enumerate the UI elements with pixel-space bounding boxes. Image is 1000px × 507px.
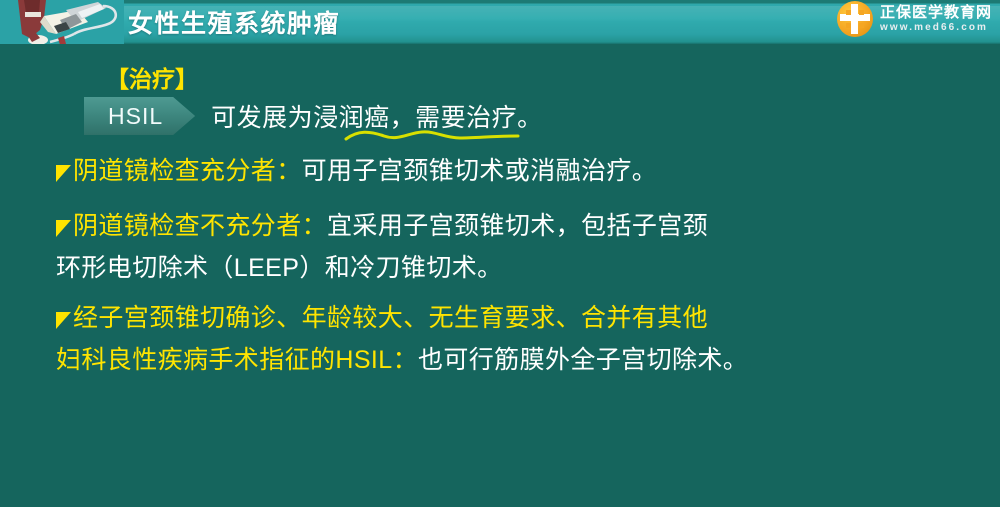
brand-url: www.med66.com [880, 23, 992, 33]
bullet-3-lead: 经子宫颈锥切确诊、年龄较大、无生育要求、合并有其他 [73, 304, 708, 332]
triangle-bullet-icon [56, 165, 71, 182]
triangle-bullet-icon [56, 220, 71, 237]
hsil-badge: HSIL [84, 97, 195, 135]
bullet-3-lead-line2: 妇科良性疾病手术指征的HSIL： [56, 346, 418, 374]
slide-body: 【治疗】 HSIL 可发展为浸润癌，需要治疗。 阴道镜检查充分者：可用子宫颈锥切… [0, 48, 1000, 507]
bullet-2-lead: 阴道镜检查不充分者： [73, 212, 327, 240]
bullet-item-3: 经子宫颈锥切确诊、年龄较大、无生育要求、合并有其他 妇科良性疾病手术指征的HSI… [56, 297, 946, 381]
hsil-statement-text: 可发展为浸润癌，需要治疗。 [211, 104, 543, 132]
hsil-statement: 可发展为浸润癌，需要治疗。 [211, 98, 543, 134]
bullet-3-rest: 也可行筋膜外全子宫切除术。 [418, 346, 748, 374]
section-title: 【治疗】 [106, 60, 198, 94]
bullet-1-rest: 可用子宫颈锥切术或消融治疗。 [302, 157, 658, 185]
bullet-1-lead: 阴道镜检查充分者： [73, 157, 302, 185]
brand-name: 正保医学教育网 [880, 5, 992, 20]
medical-cross-circle-icon [837, 1, 873, 37]
hsil-badge-label: HSIL [108, 103, 163, 130]
bullet-item-2: 阴道镜检查不充分者：宜采用子宫颈锥切术，包括子宫颈 环形电切除术（LEEP）和冷… [56, 205, 946, 289]
slide-canvas: 女性生殖系统肿瘤 正保医学教育网 www.med66.com 【治疗】 HSIL… [0, 0, 1000, 507]
triangle-bullet-icon [56, 312, 71, 329]
dental-drill-illustration [0, 0, 124, 48]
bullet-2-rest: 宜采用子宫颈锥切术，包括子宫颈 [327, 212, 708, 240]
hsil-definition-row: HSIL 可发展为浸润癌，需要治疗。 [84, 97, 543, 135]
page-title: 女性生殖系统肿瘤 [128, 8, 340, 40]
brand-logo: 正保医学教育网 www.med66.com [837, 1, 992, 37]
bullet-2-rest-line2: 环形电切除术（LEEP）和冷刀锥切术。 [56, 254, 503, 282]
bullet-item-1: 阴道镜检查充分者：可用子宫颈锥切术或消融治疗。 [56, 150, 946, 192]
